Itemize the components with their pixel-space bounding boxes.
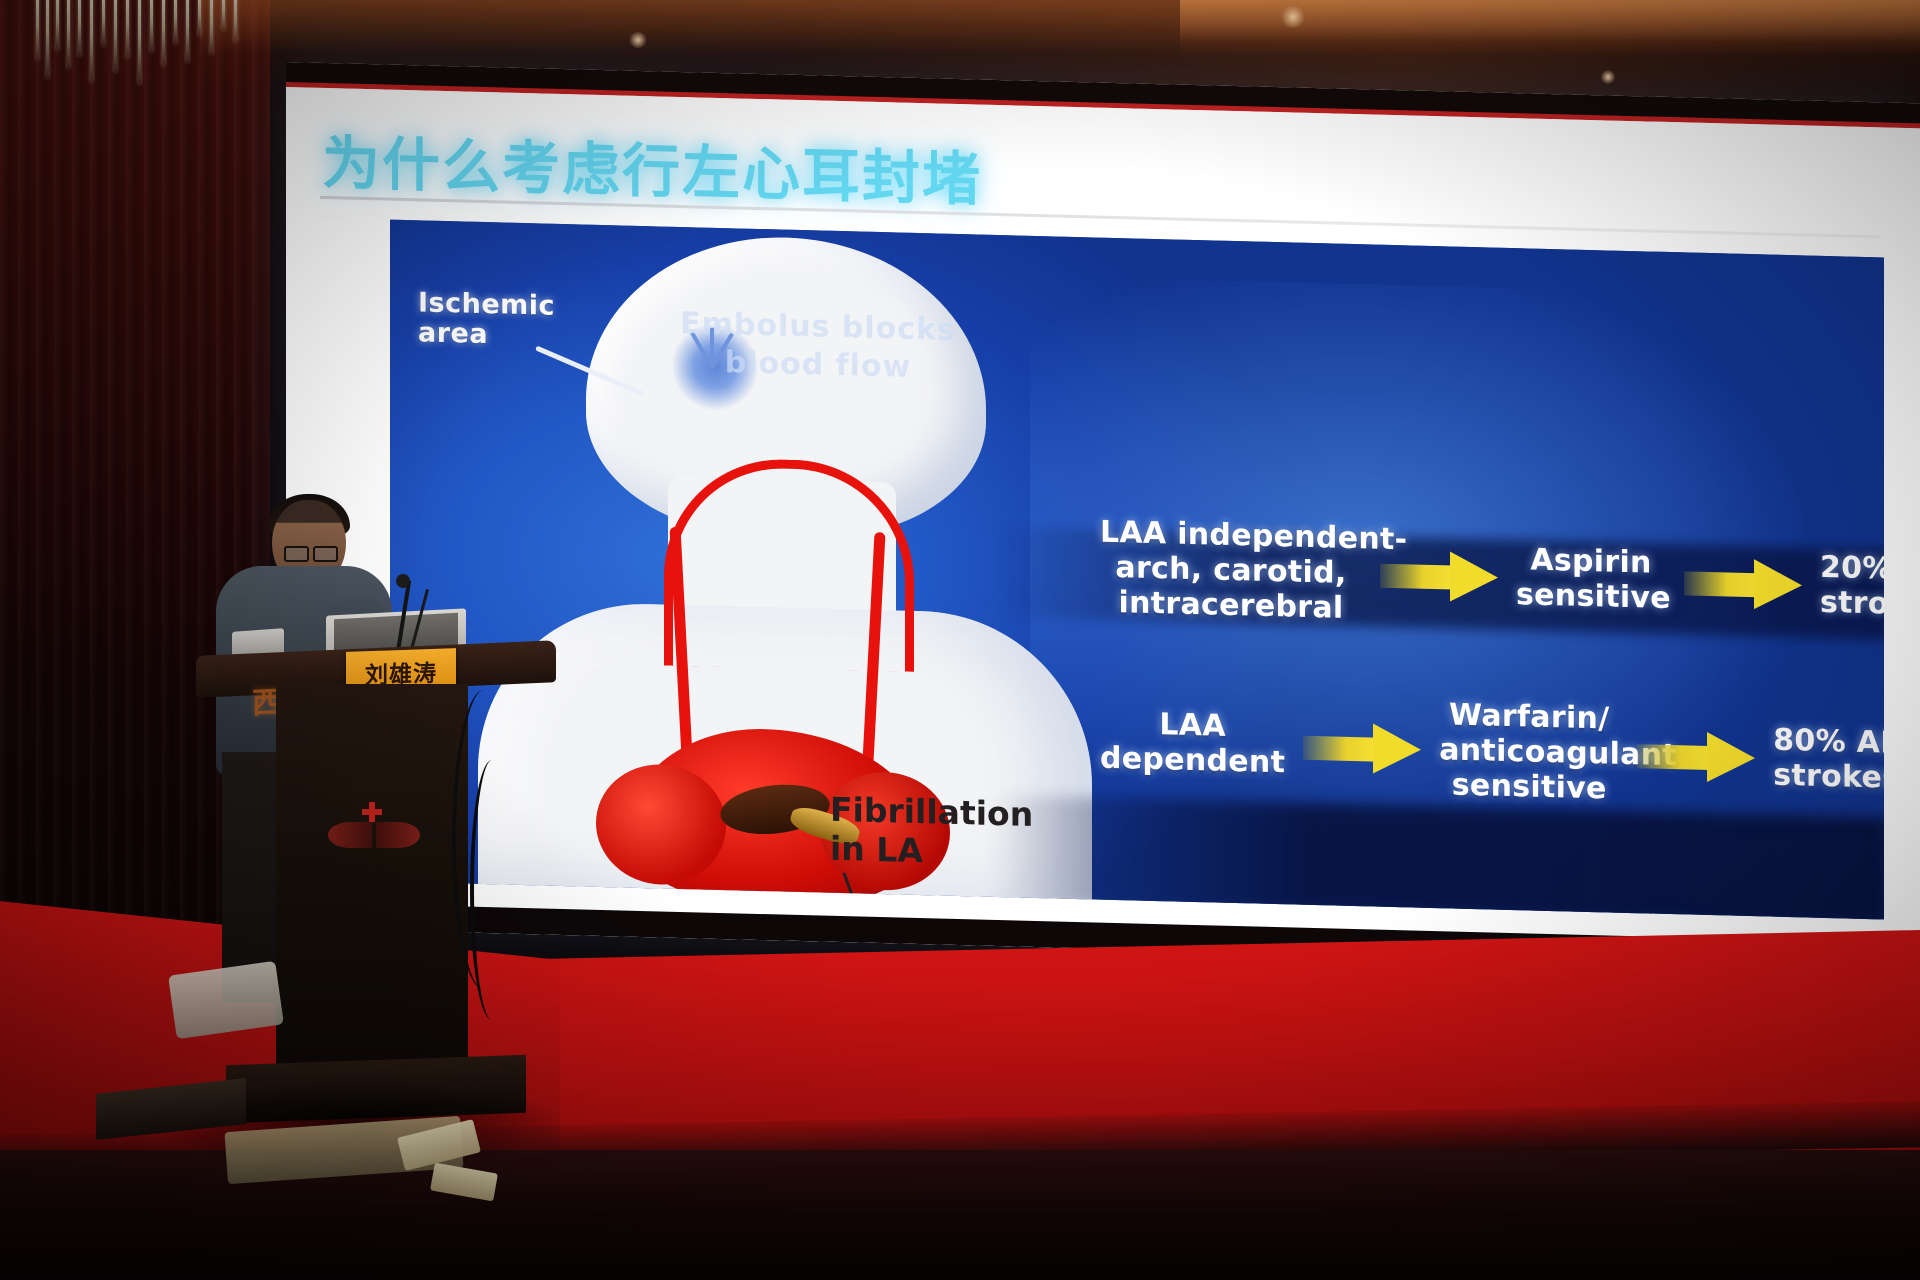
flow-row-laa-dependent: LAA dependent Warfarin/ anticoagulant se… xyxy=(1100,690,1884,814)
flow-middle-label-1: Aspirin sensitive xyxy=(1516,544,1666,617)
flow-row-laa-independent: LAA independent- arch, carotid, intracer… xyxy=(1100,516,1884,640)
floor-cable-2 xyxy=(470,760,514,1020)
flow-outcome-label-1: 20% AF strokes? xyxy=(1820,551,1884,624)
label-fibrillation-in-la: Fibrillation in LA xyxy=(830,791,1033,874)
right-arrow-icon-2 xyxy=(1684,560,1802,609)
flow-middle-label-2: Warfarin/ anticoagulant sensitive xyxy=(1439,698,1619,807)
ceiling-spot-3 xyxy=(1600,70,1616,84)
flow-source-label-2: LAA dependent xyxy=(1100,707,1285,781)
ceiling-spot-1 xyxy=(1280,6,1306,28)
right-arrow-icon-4 xyxy=(1637,732,1755,781)
podium-body xyxy=(276,684,468,1088)
label-embolus-blocks-blood-flow: Embolus blocks blood flow xyxy=(658,304,978,387)
label-ischemic-area: Ischemic area xyxy=(418,288,555,352)
right-arrow-icon-1 xyxy=(1380,552,1498,601)
projection-screen: 为什么考虑行左心耳封堵 xyxy=(286,62,1920,969)
slide-figure: Ischemic area Embolus blocks blood flow … xyxy=(390,220,1884,920)
ceiling-spot-2 xyxy=(628,32,648,48)
slide-title: 为什么考虑行左心耳封堵 xyxy=(322,116,982,217)
flow-source-label-1: LAA independent- arch, carotid, intracer… xyxy=(1100,516,1362,627)
microphone-head xyxy=(396,574,410,588)
medical-cross-wings-icon xyxy=(328,800,420,866)
right-arrow-icon-3 xyxy=(1303,724,1421,773)
chandelier xyxy=(34,0,264,86)
flow-outcome-label-2: 80% AF strokes xyxy=(1773,724,1884,797)
speaker-glasses xyxy=(284,546,338,558)
figure-shadow-band-bottom xyxy=(990,795,1884,920)
presentation-slide: 为什么考虑行左心耳封堵 xyxy=(286,87,1920,969)
presentation-photo-scene: 为什么考虑行左心耳封堵 xyxy=(0,0,1920,1280)
